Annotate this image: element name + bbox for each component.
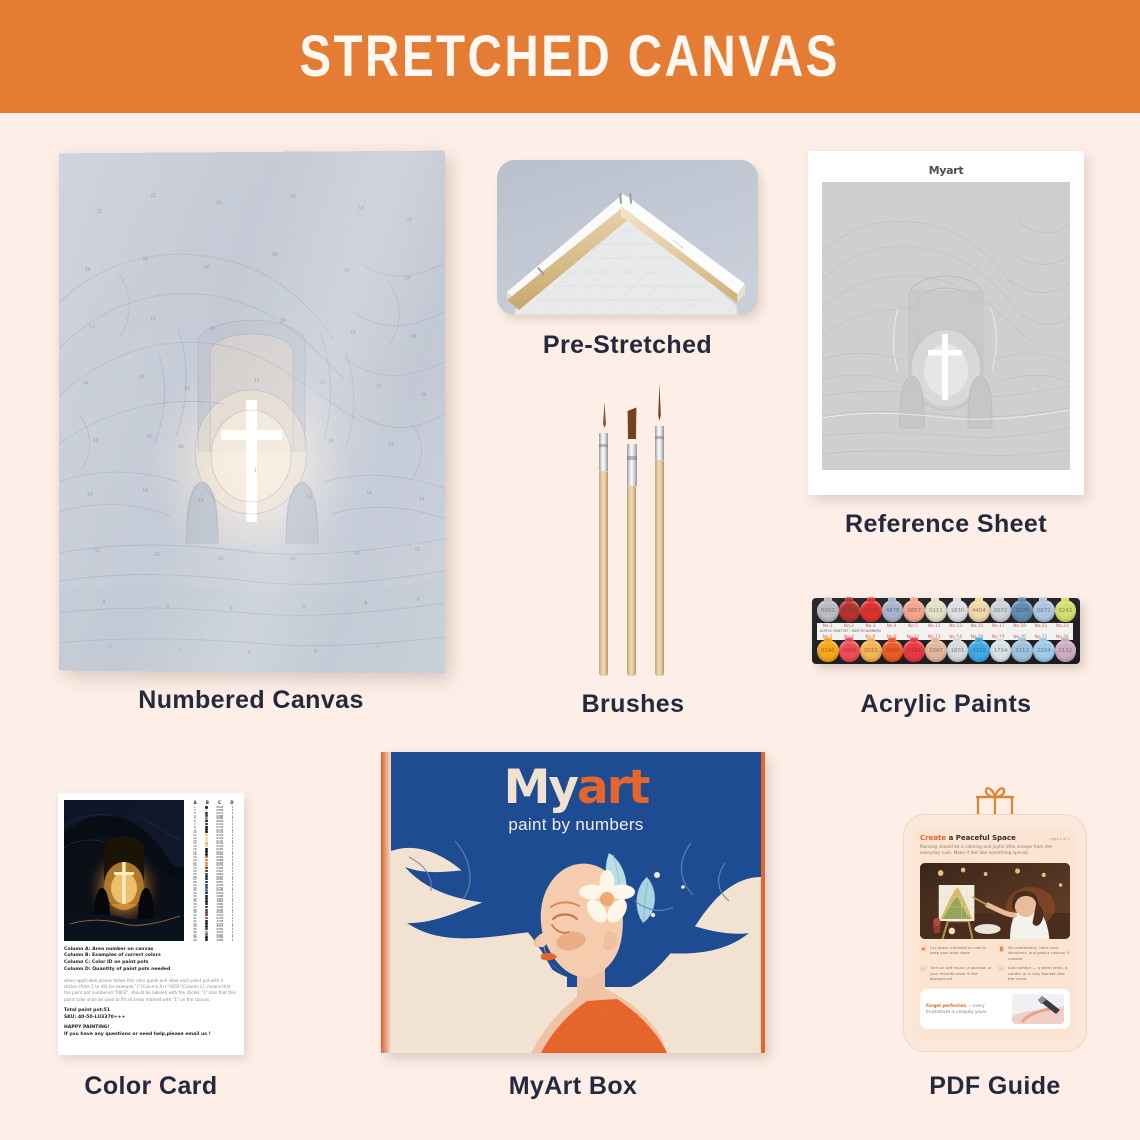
svg-text:20: 20 bbox=[280, 318, 286, 324]
paint-pot: 4878 bbox=[882, 600, 904, 622]
svg-text:10: 10 bbox=[218, 556, 224, 562]
paint-pot: 2047 bbox=[925, 640, 947, 662]
box-branding: Myart paint by numbers bbox=[391, 764, 761, 835]
color-card-column-header: A bbox=[189, 800, 201, 805]
svg-text:17: 17 bbox=[184, 386, 190, 392]
color-card-column-header: D bbox=[226, 800, 238, 805]
paint-pot-number: 0872 bbox=[1037, 608, 1051, 614]
svg-text:18: 18 bbox=[85, 267, 91, 273]
table-cell: 49 bbox=[189, 938, 201, 942]
canvas-front-face: 212121 211919 181820 201919 171720 20181… bbox=[59, 151, 445, 674]
pdf-tip-text: Sit comfortably, relax your shoulders, a… bbox=[1008, 945, 1070, 962]
paint-pot: 0072 bbox=[990, 600, 1012, 622]
reference-sheet-product: Myart bbox=[808, 151, 1084, 495]
svg-text:7: 7 bbox=[376, 645, 379, 651]
paint-pot: 0002 bbox=[817, 600, 839, 622]
svg-text:19: 19 bbox=[407, 217, 413, 223]
acrylic-paints-caption: Acrylic Paints bbox=[812, 690, 1080, 719]
numbered-canvas-product: 212121 211919 181820 201919 171720 20181… bbox=[58, 152, 444, 672]
svg-text:14: 14 bbox=[366, 490, 372, 496]
color-card-caption: Color Card bbox=[58, 1072, 244, 1101]
svg-text:10: 10 bbox=[290, 556, 296, 562]
myart-box-product: Myart paint by numbers bbox=[381, 752, 765, 1053]
box-logo-my: My bbox=[504, 760, 577, 815]
svg-text:7: 7 bbox=[109, 645, 112, 651]
svg-text:15: 15 bbox=[146, 434, 152, 440]
paint-pot-number: 1830 bbox=[951, 608, 965, 614]
svg-text:9: 9 bbox=[103, 599, 106, 605]
table-cell bbox=[201, 939, 213, 941]
acrylic-paints-tray: 0002003400234878085701111830440400723078… bbox=[812, 598, 1080, 664]
infographic-page: STRETCHED CANVAS bbox=[0, 0, 1140, 1140]
pre-stretched-image bbox=[497, 160, 758, 315]
pdf-tip-item: ▓Sit comfortably, relax your shoulders, … bbox=[998, 945, 1070, 962]
paint-pot: 1830 bbox=[947, 600, 969, 622]
svg-text:19: 19 bbox=[344, 268, 350, 274]
chair-icon: ▓ bbox=[998, 945, 1005, 952]
svg-text:21: 21 bbox=[150, 193, 156, 199]
paint-pot: 4404 bbox=[968, 600, 990, 622]
svg-text:19: 19 bbox=[358, 205, 364, 211]
paint-pot-number: 2112 bbox=[1058, 648, 1072, 654]
paint-pot: 0034 bbox=[839, 600, 861, 622]
paint-pot-number: 0242 bbox=[1058, 608, 1072, 614]
svg-text:1: 1 bbox=[254, 468, 257, 474]
pdf-highlight-accent: Forget perfection bbox=[926, 1003, 966, 1008]
svg-text:16: 16 bbox=[421, 392, 427, 398]
brushes-caption: Brushes bbox=[508, 690, 758, 719]
canvas-paint-by-numbers-artwork: 212121 211919 181820 201919 171720 20181… bbox=[59, 151, 445, 674]
pdf-title-rest: a Peaceful Space bbox=[946, 834, 1016, 842]
candle-icon: • bbox=[998, 965, 1005, 972]
svg-text:20: 20 bbox=[272, 252, 278, 258]
pdf-guide-card: Create a Peaceful Space page 1 of 1 Pain… bbox=[913, 826, 1077, 1040]
color-card-legend-line: Column C: Color ID on paint pots bbox=[64, 960, 238, 967]
paint-pot-number: 0182 bbox=[907, 648, 921, 654]
paint-pot-number: 1801 bbox=[951, 648, 965, 654]
paint-pot-number: 3460 bbox=[886, 648, 900, 654]
pdf-guide-product: Create a Peaceful Space page 1 of 1 Pain… bbox=[903, 784, 1087, 1052]
svg-text:21: 21 bbox=[290, 194, 296, 200]
svg-text:17: 17 bbox=[89, 324, 95, 330]
paint-pot: 0021 bbox=[860, 640, 882, 662]
svg-text:9: 9 bbox=[364, 601, 367, 607]
table-cell: 1 bbox=[227, 938, 238, 942]
svg-text:19: 19 bbox=[405, 275, 411, 281]
svg-text:18: 18 bbox=[411, 334, 417, 340]
svg-text:8: 8 bbox=[230, 606, 233, 612]
svg-text:16: 16 bbox=[83, 380, 89, 386]
svg-text:12: 12 bbox=[354, 550, 360, 556]
box-left-side-panel bbox=[381, 752, 391, 1053]
pdf-page-number: page 1 of 1 bbox=[1050, 837, 1070, 841]
page-title: STRETCHED CANVAS bbox=[300, 23, 841, 90]
paint-pot: 0857 bbox=[903, 600, 925, 622]
svg-text:6: 6 bbox=[248, 650, 251, 656]
color-card-total-pots: Total paint pot:51 bbox=[64, 1008, 238, 1015]
paint-pot-number: 4404 bbox=[972, 608, 986, 614]
box-logo-art: art bbox=[577, 760, 648, 815]
paint-pot: 0111 bbox=[925, 600, 947, 622]
paint-pot: 2204 bbox=[1033, 640, 1055, 662]
paint-pot-row-bottom: 0140180000213460018220471801311317942113… bbox=[817, 640, 1076, 662]
paint-pot-number: 0034 bbox=[843, 608, 857, 614]
paint-pot: 0872 bbox=[1033, 600, 1055, 622]
svg-text:16: 16 bbox=[178, 444, 184, 450]
pdf-card-title: Create a Peaceful Space bbox=[920, 834, 1016, 842]
svg-text:8: 8 bbox=[302, 604, 305, 610]
svg-text:12: 12 bbox=[95, 547, 101, 553]
paint-pot-label-strip: ACRYLIC PAINT SET - PAINT BY NUMBERS No.… bbox=[817, 623, 1073, 640]
pdf-highlight-image bbox=[1012, 994, 1064, 1024]
pdf-tip-text: Lay down a blanket or mat to keep your a… bbox=[930, 945, 992, 962]
svg-text:15: 15 bbox=[93, 438, 99, 444]
svg-text:12: 12 bbox=[415, 547, 421, 553]
paint-pot-number: 0140 bbox=[821, 648, 835, 654]
paint-pot-number: 0023 bbox=[864, 608, 878, 614]
paint-pot: 3460 bbox=[882, 640, 904, 662]
box-right-edge bbox=[761, 752, 765, 1053]
color-swatch bbox=[205, 939, 207, 941]
svg-text:16: 16 bbox=[328, 438, 334, 444]
box-illustration bbox=[391, 837, 761, 1053]
svg-text:13: 13 bbox=[198, 498, 204, 504]
stretched-canvas-corner-photo bbox=[497, 160, 758, 315]
color-card-support-note: If you have any questions or need help,p… bbox=[64, 1032, 238, 1039]
paint-pot-number: 2047 bbox=[929, 648, 943, 654]
pdf-guide-photo bbox=[920, 863, 1070, 939]
pdf-tip-item: ▣Lay down a blanket or mat to keep your … bbox=[920, 945, 992, 962]
paint-pot-number: 1800 bbox=[843, 648, 857, 654]
color-card-reference-image bbox=[64, 800, 184, 941]
color-card-happy-painting: HAPPY PAINTING! bbox=[64, 1025, 238, 1032]
pdf-tip-text: Turn on soft music, a podcast, or your f… bbox=[930, 965, 992, 982]
myart-logo-text: Myart bbox=[822, 164, 1070, 177]
lamp-icon: ▣ bbox=[920, 945, 927, 952]
paint-pot-number: 1794 bbox=[994, 648, 1008, 654]
paint-pot: 2113 bbox=[1011, 640, 1033, 662]
paint-pot: 3113 bbox=[968, 640, 990, 662]
music-icon: ♪ bbox=[920, 965, 927, 972]
color-card-column-header: B bbox=[201, 800, 213, 805]
svg-text:9: 9 bbox=[417, 597, 420, 603]
myart-box-caption: MyArt Box bbox=[381, 1072, 765, 1101]
svg-text:12: 12 bbox=[154, 552, 160, 558]
svg-text:6: 6 bbox=[314, 648, 317, 654]
svg-text:16: 16 bbox=[138, 374, 144, 380]
pdf-tip-text: Add comfort — a warm drink, a candle, or… bbox=[1008, 965, 1070, 982]
paint-pot: 0182 bbox=[903, 640, 925, 662]
pdf-highlight-text: Forget perfection — every brushstroke is… bbox=[926, 1003, 1007, 1015]
color-card-table: ABCD 10003120009130072140068150080160062… bbox=[189, 800, 238, 942]
numbered-canvas-caption: Numbered Canvas bbox=[58, 686, 444, 715]
paint-pot: 3078 bbox=[1011, 600, 1033, 622]
paint-pot-number: 0857 bbox=[907, 608, 921, 614]
svg-text:15: 15 bbox=[388, 442, 394, 448]
svg-text:18: 18 bbox=[142, 256, 148, 262]
svg-text:9: 9 bbox=[166, 604, 169, 610]
svg-text:20: 20 bbox=[204, 264, 210, 270]
svg-text:14: 14 bbox=[87, 492, 93, 498]
box-front-face: Myart paint by numbers bbox=[391, 752, 761, 1053]
color-card-product: ABCD 10003120009130072140068150080160062… bbox=[58, 793, 244, 1055]
pre-stretched-caption: Pre-Stretched bbox=[497, 331, 758, 360]
pdf-tips-list: ▣Lay down a blanket or mat to keep your … bbox=[920, 945, 1070, 982]
svg-text:20: 20 bbox=[210, 326, 216, 332]
paint-pot-number: 2204 bbox=[1037, 648, 1051, 654]
color-card-table-body: 1000312000913007214006815008016006217011… bbox=[189, 806, 238, 942]
color-card-instructions: when applicable,please follow this color… bbox=[64, 978, 238, 1003]
paint-pot-number: 0072 bbox=[994, 608, 1008, 614]
reference-sheet-caption: Reference Sheet bbox=[808, 510, 1084, 539]
svg-text:13: 13 bbox=[306, 494, 312, 500]
svg-text:21: 21 bbox=[216, 200, 222, 206]
table-row: 4920661 bbox=[189, 939, 238, 942]
svg-text:14: 14 bbox=[419, 496, 425, 502]
paint-pot-number: 0002 bbox=[821, 608, 835, 614]
header-banner: STRETCHED CANVAS bbox=[0, 0, 1140, 113]
color-card-column-header: C bbox=[214, 800, 226, 805]
pdf-tip-item: ♪Turn on soft music, a podcast, or your … bbox=[920, 965, 992, 982]
svg-text:14: 14 bbox=[142, 488, 148, 494]
color-card-sku: SKU: 40-50-LU3370+++ bbox=[64, 1015, 238, 1022]
pdf-tip-item: •Add comfort — a warm drink, a candle, o… bbox=[998, 965, 1070, 982]
reference-sheet-lineart bbox=[822, 182, 1070, 470]
paint-pot-number: 4878 bbox=[886, 608, 900, 614]
paint-pot: 2112 bbox=[1055, 640, 1077, 662]
paint-pot: 0140 bbox=[817, 640, 839, 662]
svg-text:7: 7 bbox=[178, 648, 181, 654]
svg-text:18: 18 bbox=[350, 330, 356, 336]
paint-pot: 0023 bbox=[860, 600, 882, 622]
pdf-guide-page: Create a Peaceful Space page 1 of 1 Pain… bbox=[903, 814, 1087, 1052]
color-card-legend: Column A: Area number on canvasColumn B:… bbox=[64, 947, 238, 974]
paint-pot: 1800 bbox=[839, 640, 861, 662]
svg-text:17: 17 bbox=[376, 384, 382, 390]
pdf-highlight-box: Forget perfection — every brushstroke is… bbox=[920, 989, 1070, 1029]
brushes-product bbox=[583, 388, 683, 676]
paint-pot-number: 0021 bbox=[864, 648, 878, 654]
paint-pot: 0242 bbox=[1055, 600, 1077, 622]
color-card-legend-line: Column D: Quantity of paint pots needed bbox=[64, 967, 238, 974]
paint-pot-number: 3078 bbox=[1015, 608, 1029, 614]
svg-text:21: 21 bbox=[97, 209, 103, 215]
table-cell: 2066 bbox=[213, 938, 228, 942]
paint-pot: 1794 bbox=[990, 640, 1012, 662]
paint-pot-number: 2113 bbox=[1015, 648, 1029, 654]
svg-text:17: 17 bbox=[150, 316, 156, 322]
paint-pot-number: 3113 bbox=[972, 648, 986, 654]
svg-text:11: 11 bbox=[254, 378, 260, 384]
color-card-table-header: ABCD bbox=[189, 800, 238, 805]
box-tagline: paint by numbers bbox=[391, 815, 761, 835]
paint-pot: 1801 bbox=[947, 640, 969, 662]
paint-pot-number: 0111 bbox=[929, 608, 943, 614]
paint-pot-row-top: 0002003400234878085701111830440400723078… bbox=[817, 600, 1076, 622]
pdf-card-subtitle: Painting should be a calming and joyful … bbox=[920, 845, 1070, 858]
svg-text:17: 17 bbox=[320, 380, 326, 386]
pdf-title-accent: Create bbox=[920, 834, 946, 842]
pdf-guide-caption: PDF Guide bbox=[898, 1072, 1092, 1101]
